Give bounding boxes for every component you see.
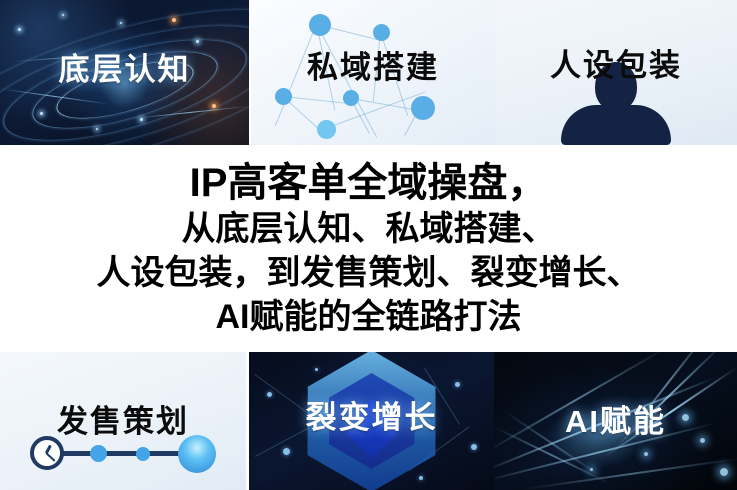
glow-dot-icon xyxy=(590,468,593,471)
spark-dot-icon xyxy=(140,118,143,121)
panel-label-persona-packaging: 人设包装 xyxy=(495,40,737,85)
network-node-icon xyxy=(275,88,292,105)
spark-dot-icon xyxy=(212,104,216,108)
main-title-block: IP高客单全域操盘， 从底层认知、私域搭建、 人设包装，到发售策划、裂变增长、 … xyxy=(0,145,737,352)
title-line-4: AI赋能的全链路打法 xyxy=(216,295,522,339)
spark-dot-icon xyxy=(18,28,21,31)
spark-dot-icon xyxy=(96,128,98,130)
network-node-icon xyxy=(309,14,331,36)
network-node-icon xyxy=(471,444,477,450)
title-line-3: 人设包装，到发售策划、裂变增长、 xyxy=(97,251,641,295)
network-node-icon xyxy=(455,382,460,387)
title-line-2: 从底层认知、私域搭建、 xyxy=(182,207,556,251)
bottom-panel-row: 发售策划 裂变增长 xyxy=(0,352,737,490)
panel-label-launch-planning: 发售策划 xyxy=(0,396,246,441)
panel-label-foundational-cognition: 底层认知 xyxy=(0,44,249,89)
panel-persona-packaging[interactable]: 人设包装 xyxy=(495,0,737,145)
clock-icon xyxy=(30,436,64,470)
network-node-icon xyxy=(317,120,336,139)
timeline-milestone-icon xyxy=(136,447,150,461)
panel-ai-empowerment[interactable]: AI赋能 xyxy=(494,352,737,490)
network-node-icon xyxy=(315,368,318,371)
panel-foundational-cognition[interactable]: 底层认知 xyxy=(0,0,249,145)
timeline-track-icon xyxy=(46,451,192,456)
panel-label-fission-growth: 裂变增长 xyxy=(249,392,494,437)
top-panel-row: 底层认知 xyxy=(0,0,737,145)
panel-private-domain-building[interactable]: 私域搭建 xyxy=(251,0,495,145)
spark-dot-icon xyxy=(172,18,176,22)
network-node-icon xyxy=(343,90,359,106)
network-node-icon xyxy=(419,476,423,480)
spark-dot-icon xyxy=(196,40,199,43)
panel-label-ai-empowerment: AI赋能 xyxy=(494,396,737,441)
panel-launch-planning[interactable]: 发售策划 xyxy=(0,352,246,490)
spark-dot-icon xyxy=(120,22,122,24)
panel-fission-growth[interactable]: 裂变增长 xyxy=(249,352,494,490)
panel-label-private-domain-building: 私域搭建 xyxy=(251,42,495,87)
title-line-1: IP高客单全域操盘， xyxy=(190,159,548,207)
network-node-icon xyxy=(373,24,390,41)
glow-dot-icon xyxy=(644,452,648,456)
spark-dot-icon xyxy=(62,14,64,16)
network-node-icon xyxy=(283,448,290,455)
poster-root: 底层认知 xyxy=(0,0,737,490)
network-node-icon xyxy=(411,96,435,120)
spark-dot-icon xyxy=(40,112,43,115)
timeline-milestone-icon xyxy=(90,445,107,462)
glow-dot-icon xyxy=(720,468,728,476)
